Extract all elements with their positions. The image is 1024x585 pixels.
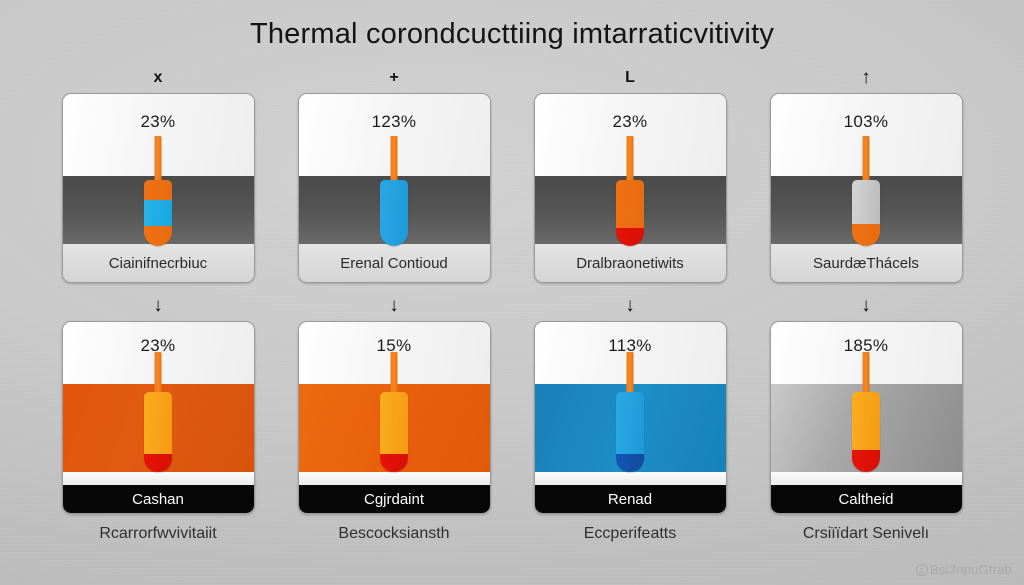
card-bottom-band: Renad [535, 485, 726, 513]
thermometer-icon [379, 352, 409, 472]
card-value: 123% [299, 112, 490, 132]
l-marker: L [625, 63, 635, 93]
card-band-label: Dralbraonetiwits [576, 255, 684, 272]
card-value: 103% [771, 112, 962, 132]
card-cell: ↑ 103% SaurdæThácels [748, 63, 984, 283]
card-cell: x 23% Ciainifnecrbiuc [40, 63, 276, 283]
bulb-segment [852, 392, 880, 450]
copyright-icon: c [916, 564, 928, 576]
bulb-segment [616, 392, 644, 454]
thermometer-stem [863, 352, 870, 396]
down-arrow-marker: ↓ [389, 291, 399, 321]
thermometer-bulb [144, 180, 172, 246]
bulb-segment [144, 180, 172, 200]
thermometer-icon [851, 352, 881, 472]
card-value: 23% [63, 112, 254, 132]
card-value: 23% [63, 336, 254, 356]
card-caption: Crsiïïdart Senivelı [761, 525, 971, 543]
card-band-label: Ciainifnecrbiuc [109, 255, 207, 272]
bulb-segment [852, 450, 880, 472]
up-arrow-marker: ↑ [861, 63, 871, 93]
card-bottom-band: Dralbraonetiwits [535, 244, 726, 282]
watermark-text: Bsi3ripuGtrab [930, 562, 1012, 577]
thermometer-card[interactable]: 113% Renad [534, 321, 727, 514]
infographic-page: Thermal corondcucttiing imtarraticvitivi… [0, 0, 1024, 585]
thermometer-bulb [852, 180, 880, 246]
watermark: c Bsi3ripuGtrab [916, 562, 1012, 577]
thermometer-stem [155, 136, 162, 184]
thermometer-bulb [380, 180, 408, 246]
thermometer-card-grid: x 23% Ciainifnecrbiuc [40, 63, 984, 543]
thermometer-card[interactable]: 103% SaurdæThácels [770, 93, 963, 283]
card-value: 15% [299, 336, 490, 356]
thermometer-icon [143, 352, 173, 472]
thermometer-icon [615, 352, 645, 472]
thermometer-bulb [616, 180, 644, 246]
thermometer-stem [863, 136, 870, 184]
bulb-segment [380, 392, 408, 454]
bulb-segment [380, 180, 408, 246]
card-caption: Rcarrorfwvivitaiit [53, 525, 263, 543]
card-band-label: Caltheid [838, 491, 893, 508]
thermometer-stem [391, 136, 398, 184]
card-cell: L 23% Dralbraonetiwits [512, 63, 748, 283]
bulb-segment [144, 226, 172, 246]
card-value: 23% [535, 112, 726, 132]
card-cell: ↓ 113% Renad [512, 291, 748, 543]
card-bottom-band: Cgjrdaint [299, 485, 490, 513]
plus-marker: + [389, 63, 398, 93]
thermometer-icon [615, 136, 645, 246]
card-band-label: Cgjrdaint [364, 491, 424, 508]
bulb-segment [144, 454, 172, 472]
bulb-segment [852, 224, 880, 246]
card-band-label: SaurdæThácels [813, 255, 919, 272]
card-cell: ↓ 185% Caltheid [748, 291, 984, 543]
card-bottom-band: Cashan [63, 485, 254, 513]
thermometer-bulb [852, 392, 880, 472]
card-value: 113% [535, 336, 726, 356]
thermometer-stem [391, 352, 398, 396]
down-arrow-marker: ↓ [153, 291, 163, 321]
row-spacer [40, 283, 984, 291]
x-marker: x [154, 63, 163, 93]
thermometer-icon [143, 136, 173, 246]
card-band-label: Renad [608, 491, 652, 508]
bottom-row: ↓ 23% Cashan [40, 291, 984, 543]
bulb-segment [616, 454, 644, 472]
thermometer-card[interactable]: 23% Dralbraonetiwits [534, 93, 727, 283]
card-bottom-band: Erenal Contioud [299, 244, 490, 282]
thermometer-bulb [144, 392, 172, 472]
card-bottom-band: Ciainifnecrbiuc [63, 244, 254, 282]
thermometer-bulb [380, 392, 408, 472]
card-cell: ↓ 23% Cashan [40, 291, 276, 543]
thermometer-icon [851, 136, 881, 246]
card-bottom-band: Caltheid [771, 485, 962, 513]
card-bottom-band: SaurdæThácels [771, 244, 962, 282]
thermometer-stem [627, 352, 634, 396]
card-caption: Eccperifeatts [525, 525, 735, 543]
bulb-segment [144, 200, 172, 226]
thermometer-card[interactable]: 15% Cgjrdaint [298, 321, 491, 514]
down-arrow-marker: ↓ [625, 291, 635, 321]
thermometer-stem [627, 136, 634, 184]
card-value: 185% [771, 336, 962, 356]
bulb-segment [616, 180, 644, 228]
card-cell: + 123% Erenal Contioud [276, 63, 512, 283]
thermometer-bulb [616, 392, 644, 472]
page-title: Thermal corondcucttiing imtarraticvitivi… [0, 18, 1024, 51]
card-band-label: Cashan [132, 491, 184, 508]
card-caption: Bescocksiansth [289, 525, 499, 543]
top-row: x 23% Ciainifnecrbiuc [40, 63, 984, 283]
bulb-segment [852, 180, 880, 224]
card-band-label: Erenal Contioud [340, 255, 448, 272]
thermometer-card[interactable]: 23% Cashan [62, 321, 255, 514]
thermometer-icon [379, 136, 409, 246]
thermometer-card[interactable]: 123% Erenal Contioud [298, 93, 491, 283]
bulb-segment [144, 392, 172, 454]
bulb-segment [380, 454, 408, 472]
thermometer-card[interactable]: 185% Caltheid [770, 321, 963, 514]
bulb-segment [616, 228, 644, 246]
down-arrow-marker: ↓ [861, 291, 871, 321]
thermometer-card[interactable]: 23% Ciainifnecrbiuc [62, 93, 255, 283]
thermometer-stem [155, 352, 162, 396]
card-cell: ↓ 15% Cgjrdaint [276, 291, 512, 543]
